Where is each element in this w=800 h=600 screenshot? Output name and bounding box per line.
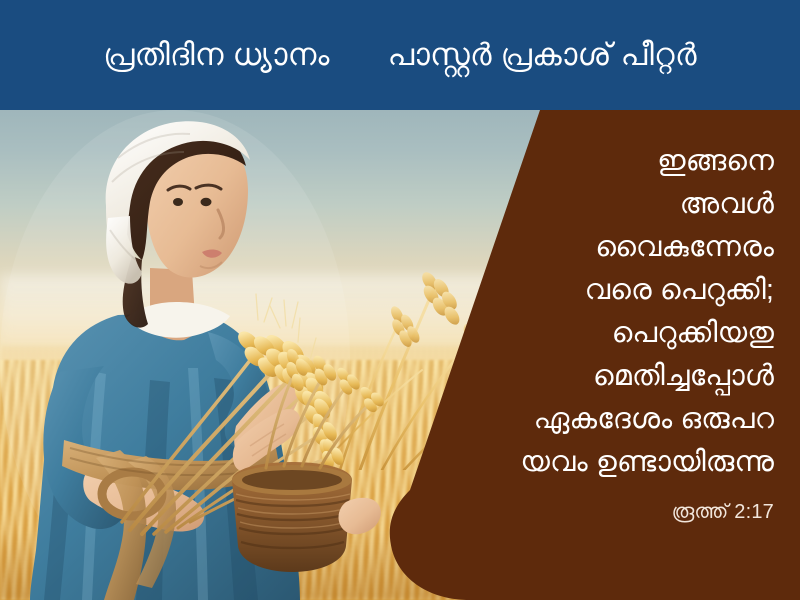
verse-line: വരെ പെറുക്കി; xyxy=(374,269,774,312)
verse-line: പെറുക്കിയതു xyxy=(374,312,774,355)
verse-line: ഇങ്ങനെ xyxy=(374,140,774,183)
verse-line: അവൾ xyxy=(374,183,774,226)
header-right-title: പാസ്റ്റർ പ്രകാശ് പീറ്റർ xyxy=(388,38,697,72)
verse-text-block: ഇങ്ങനെ അവൾ വൈകുന്നേരം വരെ പെറുക്കി; പെറു… xyxy=(374,140,774,526)
header-left-title: പ്രതിദിന ധ്യാനം xyxy=(103,38,329,72)
header-bar: പ്രതിദിന ധ്യാനം പാസ്റ്റർ പ്രകാശ് പീറ്റർ xyxy=(0,0,800,110)
verse-reference: രൂത്ത് 2:17 xyxy=(374,498,774,526)
verse-line: ഏകദേശം ഒരുപറ xyxy=(374,398,774,441)
verse-line: വൈകുന്നേരം xyxy=(374,226,774,269)
verse-line: മെതിച്ചപ്പോൾ xyxy=(374,355,774,398)
slide-canvas: ഇങ്ങനെ അവൾ വൈകുന്നേരം വരെ പെറുക്കി; പെറു… xyxy=(0,0,800,600)
woman-figure xyxy=(0,110,430,600)
verse-line: യവം ഉണ്ടായിരുന്നു xyxy=(374,441,774,484)
